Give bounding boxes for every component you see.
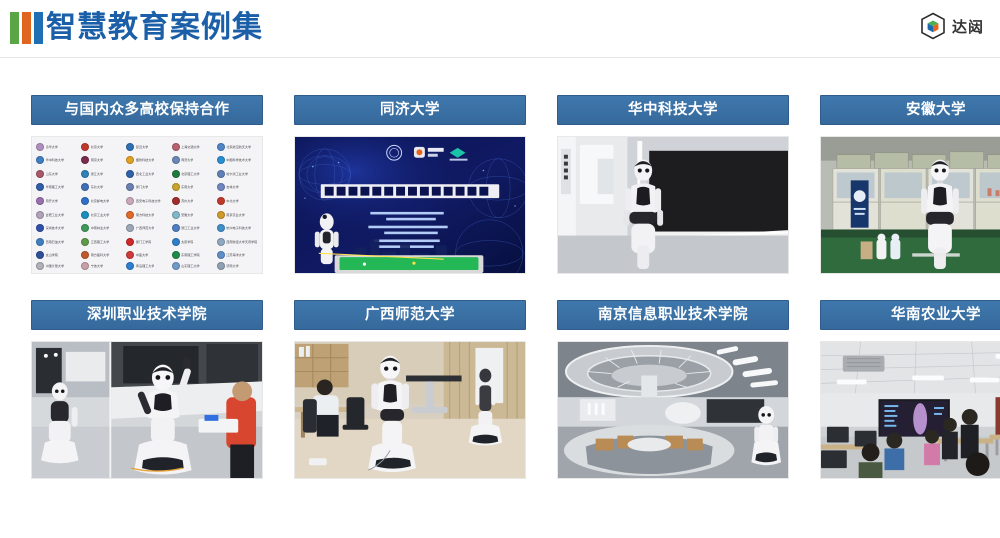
university-name: 华中科技大学 <box>46 158 65 162</box>
university-logo-item: 宁波大学 <box>79 262 124 270</box>
photo-robots-split <box>31 341 263 479</box>
hexagon-cube-logo-icon <box>920 12 946 40</box>
university-logo-item: 南京大学 <box>79 154 124 168</box>
university-name: 北京工业大学 <box>91 213 110 217</box>
university-seal-icon <box>217 197 225 205</box>
university-logo-item: 北京大学 <box>79 140 124 154</box>
university-logo-item: 厦门大学 <box>124 181 169 195</box>
university-logo-item: 复旦大学 <box>124 140 169 154</box>
slide-header: 智慧教育案例集 达闼 <box>0 0 1000 57</box>
university-logo-item: 同济大学 <box>170 154 215 168</box>
university-name: 吉林大学 <box>226 185 238 189</box>
university-logo-item: 江西理工大学 <box>79 235 124 249</box>
university-logo-item: 中南林业大学 <box>79 221 124 235</box>
university-name: 浙江工业大学 <box>181 226 200 230</box>
header-divider <box>0 57 1000 58</box>
university-logo-item: 华南理工大学 <box>34 181 79 195</box>
university-seal-icon <box>217 211 225 219</box>
university-logo-item: 厦门工学院 <box>124 235 169 249</box>
university-logo-item: 东南理工学院 <box>170 248 215 262</box>
university-name: 东南大学 <box>181 185 193 189</box>
university-name: 南方医科大学 <box>91 253 110 257</box>
university-logo-grid: 清华大学北京大学复旦大学上海交通大学北京航空航天大学华中科技大学南京大学国防科技… <box>32 137 262 273</box>
university-name: 山东大学 <box>46 172 58 176</box>
university-logo-item: 安徽大学 <box>170 208 215 222</box>
university-name: 北京理工大学 <box>181 172 200 176</box>
university-name: 哈尔滨工业大学 <box>226 172 248 176</box>
photo-robots-classroom <box>294 341 526 479</box>
university-seal-icon <box>217 156 225 164</box>
university-logo-item: 文山学院 <box>34 248 79 262</box>
university-seal-icon <box>172 156 180 164</box>
card-title: 南京信息职业技术学院 <box>557 300 789 330</box>
case-card-hust[interactable]: 华中科技大学 <box>557 95 789 274</box>
university-name: 杭州电子科技大学 <box>226 226 251 230</box>
university-name: 中国计量大学 <box>46 264 65 268</box>
university-seal-icon <box>172 238 180 246</box>
case-card-nanjing[interactable]: 南京信息职业技术学院 <box>557 300 789 479</box>
university-seal-icon <box>172 211 180 219</box>
university-seal-icon <box>36 211 44 219</box>
tongji-competition-banner <box>294 136 526 274</box>
university-seal-icon <box>126 183 134 191</box>
university-logo-item: 清华大学 <box>34 140 79 154</box>
card-title: 与国内众多高校保持合作 <box>31 95 263 125</box>
university-seal-icon <box>36 251 44 259</box>
university-name: 青岛理工大学 <box>136 264 155 268</box>
university-logo-item: 中北大学 <box>215 194 260 208</box>
university-seal-icon <box>126 170 134 178</box>
university-name: 中北大学 <box>226 199 238 203</box>
case-card-huanan[interactable]: 华南农业大学 <box>820 300 1000 479</box>
university-name: 西安电子科技大学 <box>136 199 161 203</box>
university-logo-item: 东北大学 <box>79 181 124 195</box>
university-seal-icon <box>126 262 134 270</box>
university-seal-icon <box>126 197 134 205</box>
university-name: 同济大学 <box>181 158 193 162</box>
university-seal-icon <box>217 251 225 259</box>
university-logo-item: 西安电子科技大学 <box>124 194 169 208</box>
university-logo-item: 浙江工业大学 <box>170 221 215 235</box>
university-logo-item: 南京农业大学 <box>215 208 260 222</box>
photo-classroom-screen <box>820 341 1000 479</box>
university-logo-item: 南方医科大学 <box>79 248 124 262</box>
university-seal-icon <box>81 224 89 232</box>
case-card-guangxi[interactable]: 广西师范大学 <box>294 300 526 479</box>
card-title: 华南农业大学 <box>820 300 1000 330</box>
university-seal-icon <box>36 170 44 178</box>
university-seal-icon <box>36 238 44 246</box>
university-name: 东南理工学院 <box>181 253 200 257</box>
university-seal-icon <box>126 251 134 259</box>
university-name: 国防科技大学 <box>136 158 155 162</box>
university-seal-icon <box>36 197 44 205</box>
university-name: 江西理工大学 <box>91 240 110 244</box>
university-logo-item: 青岛理工大学 <box>124 262 169 270</box>
university-seal-icon <box>81 197 89 205</box>
university-name: 江苏海洋大学 <box>226 253 245 257</box>
university-name: 西南财经大学天府学院 <box>226 240 257 244</box>
university-name: 厦门大学 <box>136 185 148 189</box>
university-logo-item: 江苏海洋大学 <box>215 248 260 262</box>
university-name: 厦门工学院 <box>136 240 151 244</box>
university-name: 南京农业大学 <box>226 213 245 217</box>
university-logo-item: 广西师范大学 <box>124 221 169 235</box>
university-seal-icon <box>172 197 180 205</box>
university-name: 南开大学 <box>46 199 58 203</box>
university-logo-wall: 清华大学北京大学复旦大学上海交通大学北京航空航天大学华中科技大学南京大学国防科技… <box>31 136 263 274</box>
university-seal-icon <box>217 262 225 270</box>
university-logo-item: 太原学院 <box>170 235 215 249</box>
university-name: 太原学院 <box>181 240 193 244</box>
university-logo-item: 济南大学 <box>215 262 260 270</box>
university-name: 安徽大学 <box>181 213 193 217</box>
university-logo-item: 中国计量大学 <box>34 262 79 270</box>
card-row-1: 与国内众多高校保持合作 清华大学北京大学复旦大学上海交通大学北京航空航天大学华中… <box>0 95 1000 274</box>
university-seal-icon <box>36 262 44 270</box>
university-name: 西北工业大学 <box>136 172 155 176</box>
university-logo-item: 山东理工大学 <box>170 262 215 270</box>
accent-bars-icon <box>10 12 43 44</box>
university-seal-icon <box>172 224 180 232</box>
university-logo-item: 中国科学技术大学 <box>215 154 260 168</box>
university-name: 宁波大学 <box>91 264 103 268</box>
university-logo-item: 中医大学 <box>124 248 169 262</box>
university-seal-icon <box>126 143 134 151</box>
university-name: 济南大学 <box>226 264 238 268</box>
card-title: 安徽大学 <box>820 95 1000 125</box>
card-row-2: 深圳职业技术学院 <box>0 300 1000 479</box>
university-logo-item: 浙江大学 <box>79 167 124 181</box>
university-logo-item: 国防科技大学 <box>124 154 169 168</box>
page-title: 智慧教育案例集 <box>46 7 263 49</box>
university-logo-item: 华中科技大学 <box>34 154 79 168</box>
university-seal-icon <box>172 183 180 191</box>
university-logo-item: 北京理工大学 <box>170 167 215 181</box>
case-card-shenzhen[interactable]: 深圳职业技术学院 <box>31 300 263 479</box>
university-seal-icon <box>172 262 180 270</box>
brand-logo: 达闼 <box>920 12 984 40</box>
university-logo-item: 山东大学 <box>34 167 79 181</box>
university-seal-icon <box>217 143 225 151</box>
university-name: 中国科学技术大学 <box>226 158 251 162</box>
university-name: 华南理工大学 <box>46 185 65 189</box>
university-logo-item: 北京邮电大学 <box>79 194 124 208</box>
university-seal-icon <box>81 251 89 259</box>
university-logo-item: 北京航空航天大学 <box>215 140 260 154</box>
university-seal-icon <box>36 224 44 232</box>
university-seal-icon <box>81 211 89 219</box>
university-logo-item: 西南石油大学 <box>34 235 79 249</box>
university-seal-icon <box>81 238 89 246</box>
university-name: 深圳技术大学 <box>46 226 65 230</box>
university-logo-item: 苏州大学 <box>170 194 215 208</box>
university-name: 南京大学 <box>91 158 103 162</box>
university-seal-icon <box>217 183 225 191</box>
university-seal-icon <box>126 238 134 246</box>
university-name: 南方科技大学 <box>136 213 155 217</box>
university-seal-icon <box>172 143 180 151</box>
university-name: 浙江大学 <box>91 172 103 176</box>
university-logo-item: 杭州电子科技大学 <box>215 221 260 235</box>
university-name: 北京邮电大学 <box>91 199 110 203</box>
university-name: 北京大学 <box>91 145 103 149</box>
card-title: 同济大学 <box>294 95 526 125</box>
university-seal-icon <box>36 156 44 164</box>
university-name: 复旦大学 <box>136 145 148 149</box>
university-name: 中医大学 <box>136 253 148 257</box>
university-logo-item: 深圳技术大学 <box>34 221 79 235</box>
case-card-cooperation[interactable]: 与国内众多高校保持合作 清华大学北京大学复旦大学上海交通大学北京航空航天大学华中… <box>31 95 263 274</box>
university-name: 苏州大学 <box>181 199 193 203</box>
university-logo-item: 南方科技大学 <box>124 208 169 222</box>
university-logo-item: 西北工业大学 <box>124 167 169 181</box>
photo-robot-lobby <box>557 341 789 479</box>
university-seal-icon <box>217 170 225 178</box>
university-name: 西南石油大学 <box>46 240 65 244</box>
university-seal-icon <box>81 156 89 164</box>
university-seal-icon <box>126 224 134 232</box>
university-seal-icon <box>36 183 44 191</box>
university-logo-item: 西南财经大学天府学院 <box>215 235 260 249</box>
university-logo-item: 哈尔滨工业大学 <box>215 167 260 181</box>
university-seal-icon <box>126 211 134 219</box>
university-name: 文山学院 <box>46 253 58 257</box>
university-name: 山东理工大学 <box>181 264 200 268</box>
university-name: 清华大学 <box>46 145 58 149</box>
case-card-anhui[interactable]: 安徽大学 <box>820 95 1000 274</box>
university-seal-icon <box>36 143 44 151</box>
university-logo-item: 合肥工业大学 <box>34 208 79 222</box>
card-title: 华中科技大学 <box>557 95 789 125</box>
brand-name: 达闼 <box>952 16 984 37</box>
card-title: 深圳职业技术学院 <box>31 300 263 330</box>
university-name: 上海交通大学 <box>181 145 200 149</box>
university-logo-item: 北京工业大学 <box>79 208 124 222</box>
university-logo-item: 东南大学 <box>170 181 215 195</box>
university-seal-icon <box>217 224 225 232</box>
university-seal-icon <box>81 143 89 151</box>
case-card-tongji[interactable]: 同济大学 <box>294 95 526 274</box>
photo-robot-lab <box>820 136 1000 274</box>
university-seal-icon <box>172 251 180 259</box>
case-card-grid: 与国内众多高校保持合作 清华大学北京大学复旦大学上海交通大学北京航空航天大学华中… <box>0 95 1000 479</box>
university-seal-icon <box>81 170 89 178</box>
university-logo-item: 上海交通大学 <box>170 140 215 154</box>
slide-root: 智慧教育案例集 达闼 与国内众多高校保持合作 清华大学北京大学复旦大学上海交通 <box>0 0 1000 538</box>
university-seal-icon <box>81 183 89 191</box>
university-logo-item: 吉林大学 <box>215 181 260 195</box>
university-name: 合肥工业大学 <box>46 213 65 217</box>
university-name: 广西师范大学 <box>136 226 155 230</box>
university-name: 北京航空航天大学 <box>226 145 251 149</box>
university-seal-icon <box>217 238 225 246</box>
photo-robot-corridor <box>557 136 789 274</box>
university-seal-icon <box>126 156 134 164</box>
university-logo-item: 南开大学 <box>34 194 79 208</box>
university-seal-icon <box>81 262 89 270</box>
university-seal-icon <box>172 170 180 178</box>
card-title: 广西师范大学 <box>294 300 526 330</box>
university-name: 中南林业大学 <box>91 226 110 230</box>
university-name: 东北大学 <box>91 185 103 189</box>
